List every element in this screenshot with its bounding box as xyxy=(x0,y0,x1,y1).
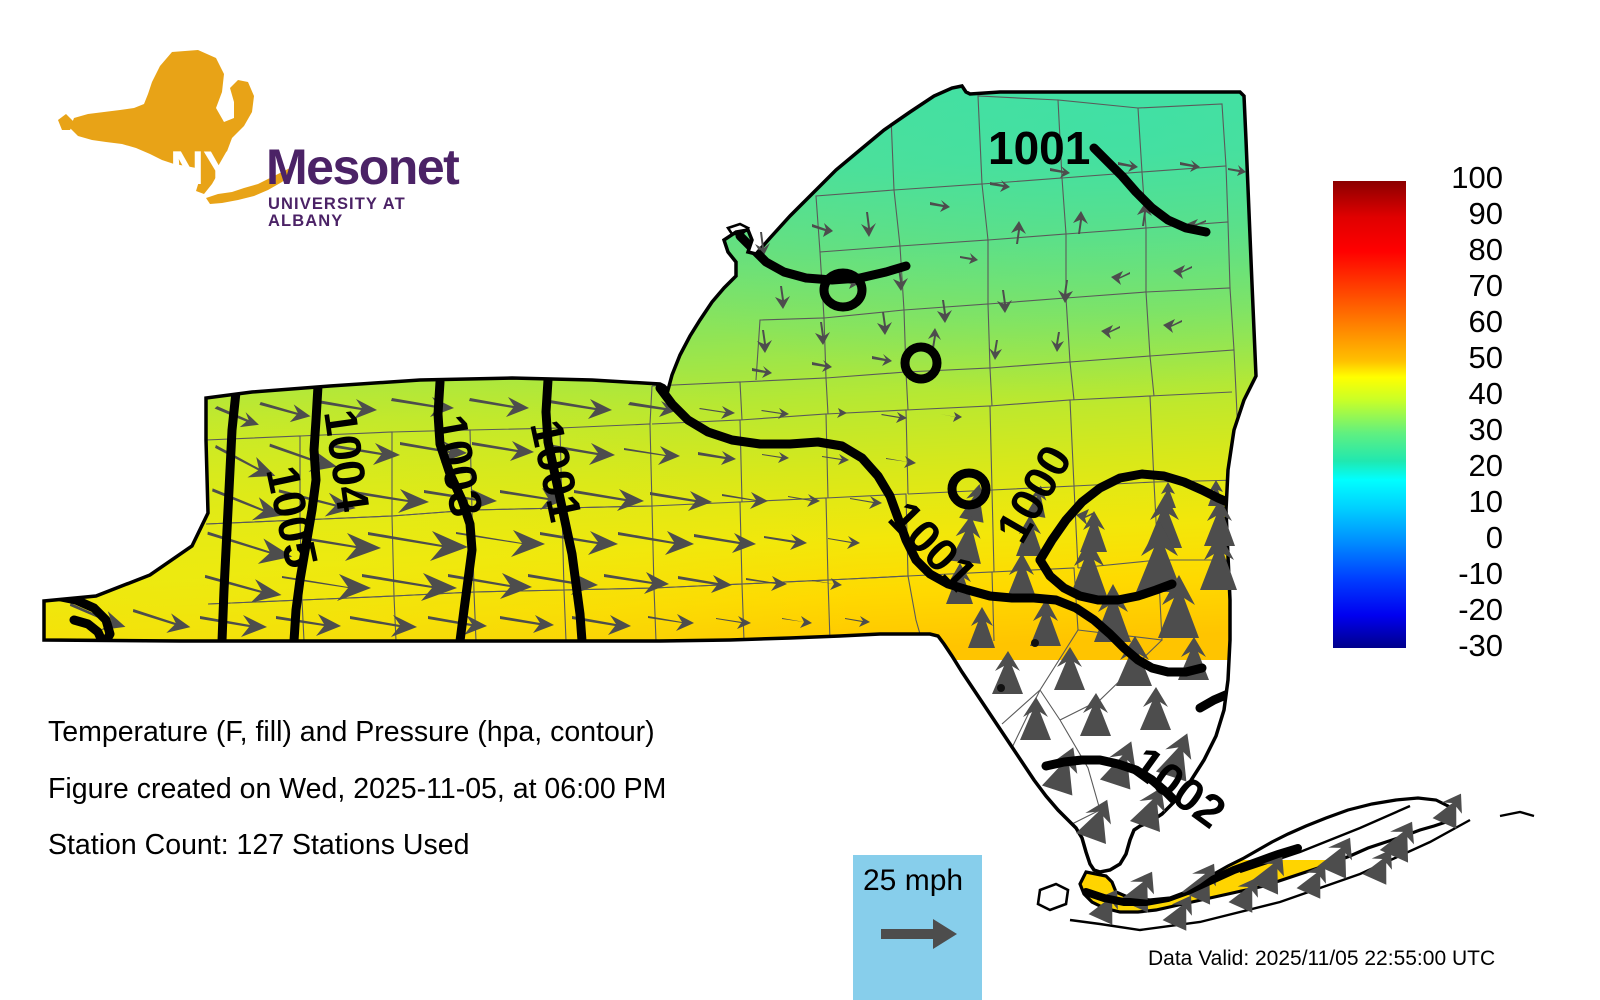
colorbar-gradient-swatch xyxy=(1333,181,1406,648)
colorbar-tick: 10 xyxy=(1411,486,1503,517)
colorbar-tick: -10 xyxy=(1411,558,1503,589)
colorbar-tick: -30 xyxy=(1411,630,1503,661)
weather-map-figure: NYS Mesonet UNIVERSITY AT ALBANY xyxy=(0,0,1600,1000)
wind-arrow-icon xyxy=(879,917,959,951)
temperature-colorbar: 100 90 80 70 60 50 40 30 20 10 0 -10 -20… xyxy=(1333,181,1553,651)
wind-speed-legend: 25 mph xyxy=(853,855,982,1000)
colorbar-tick: 30 xyxy=(1411,414,1503,445)
contour-label-1001-north: 1001 xyxy=(988,122,1090,174)
colorbar-tick: 40 xyxy=(1411,378,1503,409)
colorbar-tick: 20 xyxy=(1411,450,1503,481)
data-valid-timestamp: Data Valid: 2025/11/05 22:55:00 UTC xyxy=(1148,948,1495,969)
colorbar-tick: 90 xyxy=(1411,198,1503,229)
caption-title: Temperature (F, fill) and Pressure (hpa,… xyxy=(48,718,848,747)
caption-station-count: Station Count: 127 Stations Used xyxy=(48,831,848,860)
colorbar-tick: 60 xyxy=(1411,306,1503,337)
colorbar-tick: 80 xyxy=(1411,234,1503,265)
wind-legend-label: 25 mph xyxy=(863,866,963,896)
figure-caption: Temperature (F, fill) and Pressure (hpa,… xyxy=(48,718,848,888)
colorbar-tick-labels: 100 90 80 70 60 50 40 30 20 10 0 -10 -20… xyxy=(1411,162,1541,667)
colorbar-tick: 70 xyxy=(1411,270,1503,301)
colorbar-tick: -20 xyxy=(1411,594,1503,625)
caption-created-time: Figure created on Wed, 2025-11-05, at 06… xyxy=(48,775,848,804)
colorbar-tick: 100 xyxy=(1411,162,1503,193)
colorbar-tick: 0 xyxy=(1411,522,1503,553)
colorbar-tick: 50 xyxy=(1411,342,1503,373)
